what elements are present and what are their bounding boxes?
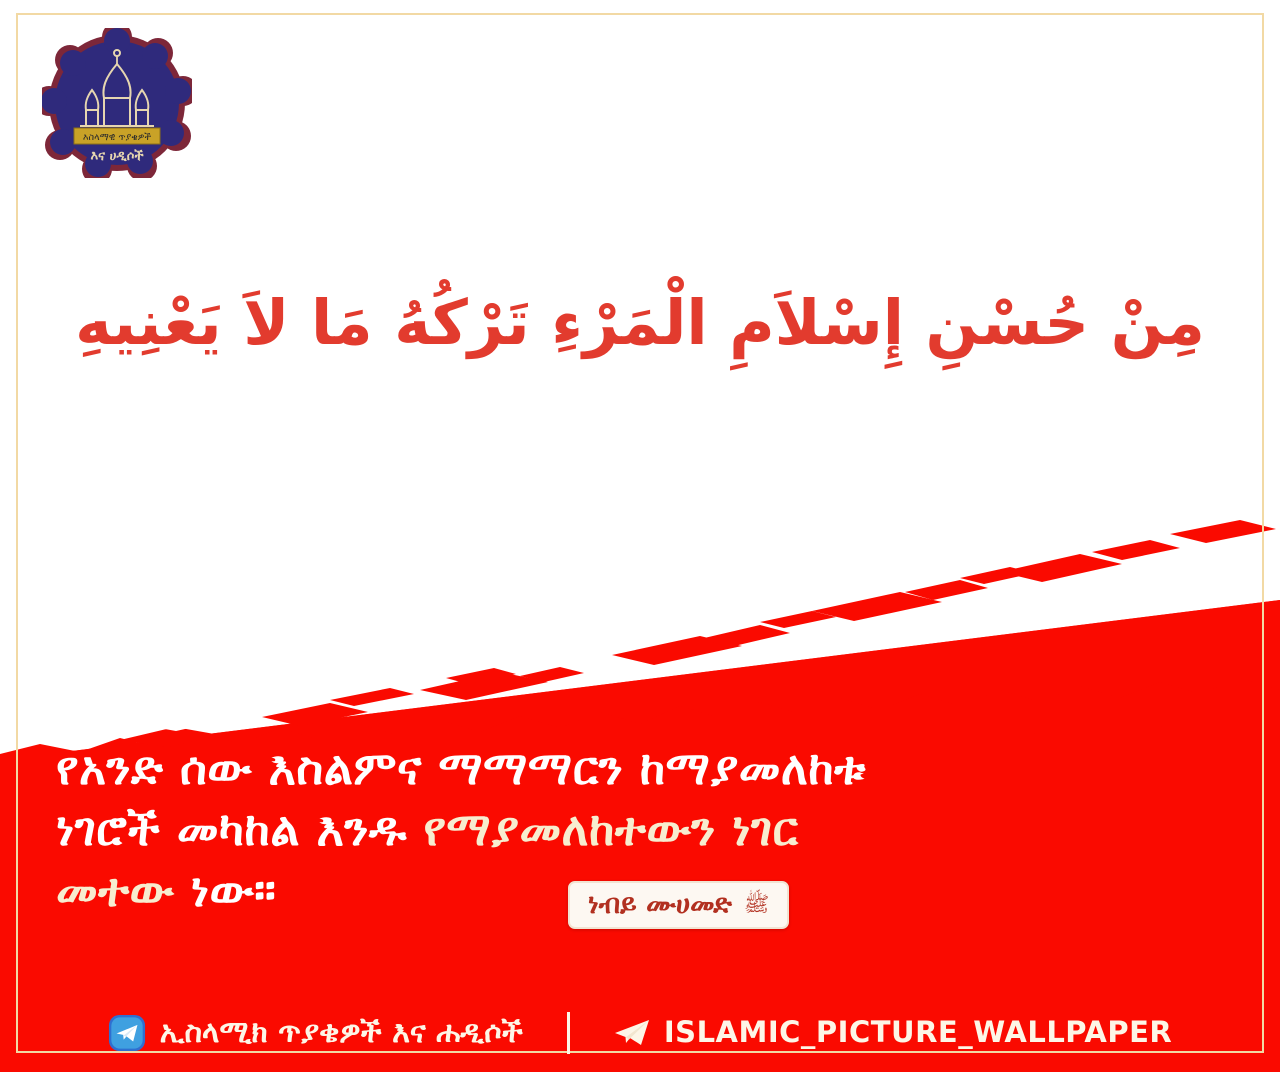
arabic-hadith-text: مِنْ حُسْنِ إِسْلاَمِ الْمَرْءِ تَرْكُهُ… bbox=[0, 278, 1280, 368]
footer-divider bbox=[567, 1012, 570, 1054]
attribution-name: ነብይ ሙሀመድ bbox=[588, 891, 732, 918]
footer-channel-amharic[interactable]: ኢስላሚክ ጥያቄዎች እና ሐዲሶች bbox=[108, 1014, 523, 1052]
mosque-dome-icon: እስላማዊ ጥያቄዎች እና ሀዲሶች bbox=[42, 28, 192, 178]
translation-line-2: ነገሮች መካከል እንዱ የማያመለከተውን ነገር bbox=[56, 799, 1216, 860]
footer-channel-latin-label: ISLAMIC_PICTURE_WALLPAPER bbox=[664, 1018, 1172, 1047]
translation-line-1: የአንድ ሰው እስልምና ማማማርን ከማያመለከቱ bbox=[56, 738, 1216, 799]
telegram-icon bbox=[108, 1014, 146, 1052]
translation-seg: ነገሮች መካከል እንዱ bbox=[56, 802, 423, 856]
footer-channel-amharic-label: ኢስላሚክ ጥያቄዎች እና ሐዲሶች bbox=[160, 1018, 523, 1048]
poster-canvas: እስላማዊ ጥያቄዎች እና ሀዲሶች مِنْ حُسْنِ إِسْلاَم… bbox=[0, 0, 1280, 1072]
translation-seg-highlight: መተው bbox=[56, 863, 191, 917]
translation-seg: ነው። bbox=[191, 863, 276, 917]
logo-sub-text: እና ሀዲሶች bbox=[90, 149, 144, 164]
footer-channel-latin[interactable]: ISLAMIC_PICTURE_WALLPAPER bbox=[614, 1018, 1172, 1048]
translation-seg-highlight: የማያመለከተውን ነገር bbox=[423, 802, 798, 856]
logo-banner-text: እስላማዊ ጥያቄዎች bbox=[83, 132, 151, 143]
attribution-badge: ነብይ ሙሀመድ ﷺ bbox=[568, 881, 789, 929]
footer: ኢስላሚክ ጥያቄዎች እና ሐዲሶች ISLAMIC_PICTURE_WALL… bbox=[0, 1005, 1280, 1060]
telegram-plane-icon bbox=[614, 1018, 650, 1048]
sallallahu-alayhi-wasallam-icon: ﷺ bbox=[744, 894, 769, 915]
translation-seg: የአንድ ሰው እስልምና ማማማርን ከማያመለከቱ bbox=[56, 741, 866, 795]
logo[interactable]: እስላማዊ ጥያቄዎች እና ሀዲሶች bbox=[42, 28, 192, 178]
